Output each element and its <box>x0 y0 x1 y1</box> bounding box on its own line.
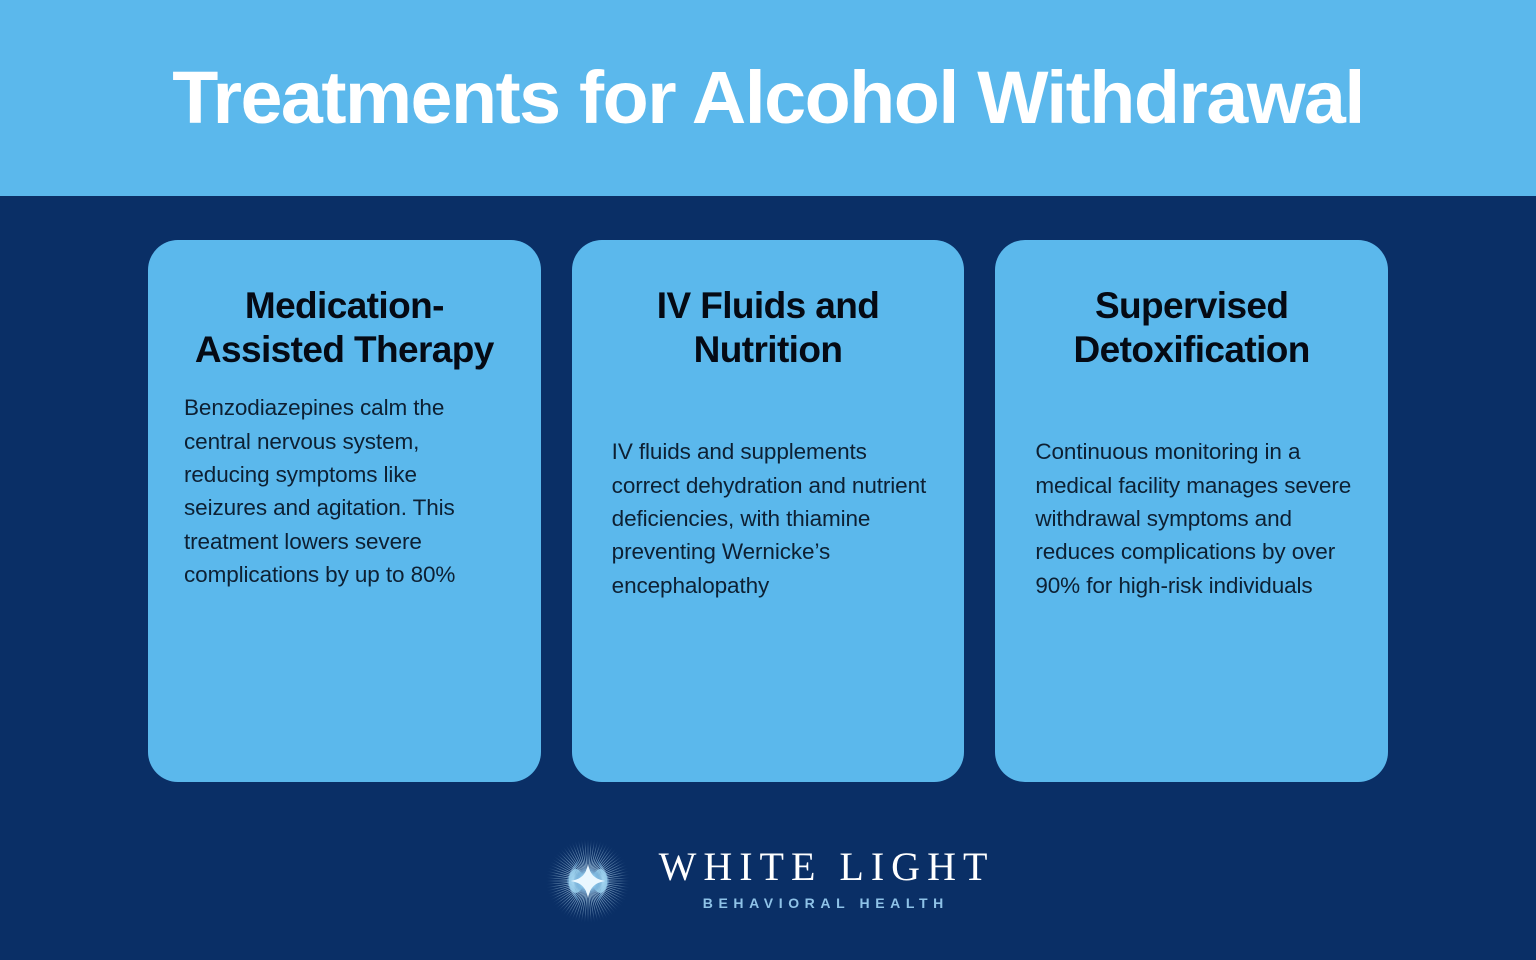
treatment-card-iv-fluids-and-nutrition: IV Fluids and Nutrition IV fluids and su… <box>572 240 965 782</box>
brand-logo: WHITE LIGHT BEHAVIORAL HEALTH <box>0 826 1536 936</box>
card-title: Supervised Detoxification <box>1031 284 1352 371</box>
brand-name: WHITE LIGHT <box>652 846 995 888</box>
treatment-cards-row: Medication-Assisted Therapy Benzodiazepi… <box>148 240 1388 782</box>
card-body-text: IV fluids and supplements correct dehydr… <box>608 435 929 601</box>
card-body-text: Continuous monitoring in a medical facil… <box>1031 435 1352 601</box>
brand-wordmark: WHITE LIGHT BEHAVIORAL HEALTH <box>652 846 995 916</box>
brand-tagline: BEHAVIORAL HEALTH <box>697 895 949 912</box>
card-body-text: Benzodiazepines calm the central nervous… <box>184 391 505 591</box>
treatment-card-medication-assisted-therapy: Medication-Assisted Therapy Benzodiazepi… <box>148 240 541 782</box>
page-title: Treatments for Alcohol Withdrawal <box>166 62 1370 135</box>
starburst-logo-icon <box>542 835 634 927</box>
treatment-card-supervised-detoxification: Supervised Detoxification Continuous mon… <box>995 240 1388 782</box>
infographic-canvas: Treatments for Alcohol Withdrawal Medica… <box>0 0 1536 960</box>
header-band: Treatments for Alcohol Withdrawal <box>0 0 1536 196</box>
card-title: IV Fluids and Nutrition <box>608 284 929 371</box>
card-title: Medication-Assisted Therapy <box>184 284 505 371</box>
